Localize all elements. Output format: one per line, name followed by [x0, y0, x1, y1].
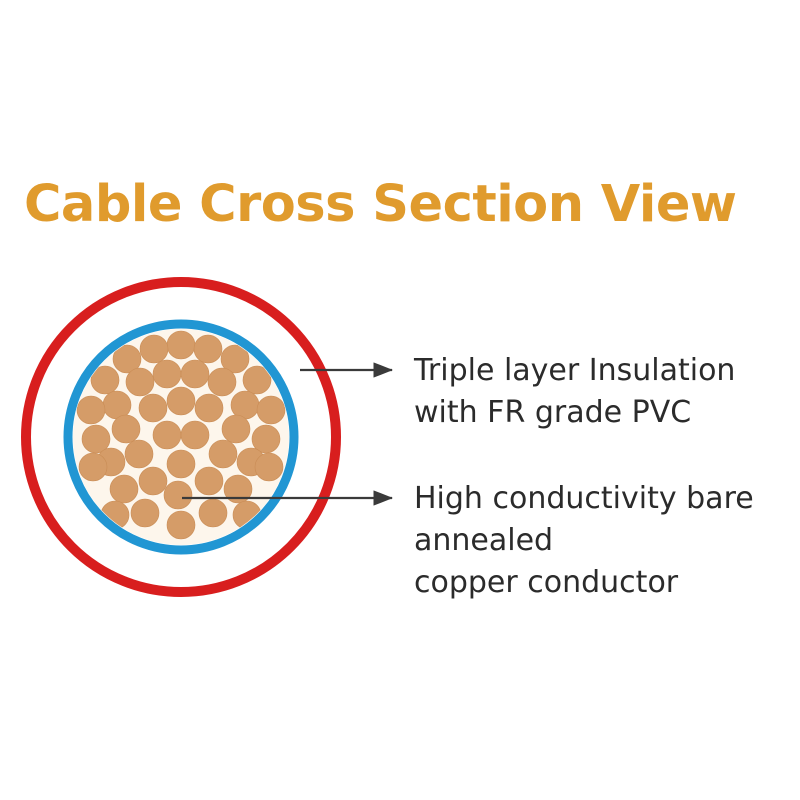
copper-strand [195, 467, 223, 495]
page-canvas: Cable Cross Section View Triple layer In… [0, 0, 800, 800]
label-triple-layer-insulation: Triple layer Insulation with FR grade PV… [414, 350, 794, 434]
cable-cross-section-diagram [0, 250, 420, 650]
copper-strand [181, 360, 209, 388]
page-title: Cable Cross Section View [24, 174, 724, 236]
label-insulation-line-2: with FR grade PVC [414, 392, 794, 434]
label-conductor-line-2: annealed [414, 520, 800, 562]
copper-strand [153, 421, 181, 449]
label-copper-conductor: High conductivity bare annealed copper c… [414, 478, 800, 604]
copper-strand [194, 335, 222, 363]
copper-strand [125, 440, 153, 468]
copper-strand [77, 396, 105, 424]
copper-strand [255, 453, 283, 481]
copper-strand [139, 467, 167, 495]
copper-strand [222, 415, 250, 443]
copper-strand [195, 394, 223, 422]
copper-strand [209, 440, 237, 468]
copper-strand [164, 481, 192, 509]
copper-strand [126, 368, 154, 396]
copper-strand [181, 421, 209, 449]
copper-strand [131, 499, 159, 527]
label-conductor-line-3: copper conductor [414, 562, 800, 604]
copper-strand [167, 511, 195, 539]
label-insulation-line-1: Triple layer Insulation [414, 350, 794, 392]
label-conductor-line-1: High conductivity bare [414, 478, 800, 520]
copper-strand [79, 453, 107, 481]
copper-strand [112, 415, 140, 443]
copper-strand [167, 450, 195, 478]
copper-strand [199, 499, 227, 527]
copper-strand [140, 335, 168, 363]
copper-strand [167, 331, 195, 359]
copper-strand [208, 368, 236, 396]
copper-strand [153, 360, 181, 388]
copper-strand [257, 396, 285, 424]
copper-strand [139, 394, 167, 422]
copper-strand [110, 475, 138, 503]
copper-strand [167, 387, 195, 415]
